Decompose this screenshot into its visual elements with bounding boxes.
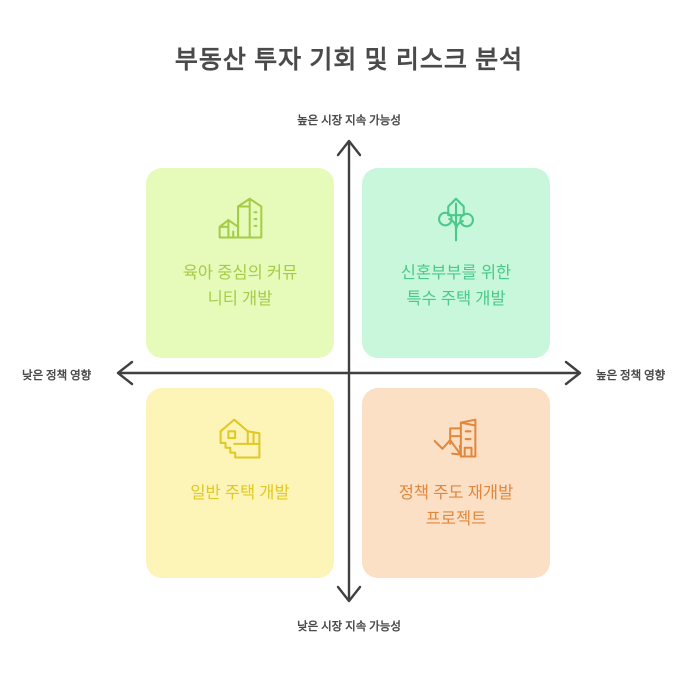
axis-label-y-high: 높은 시장 지속 가능성 xyxy=(0,112,698,128)
building-house-icon xyxy=(209,190,271,252)
quadrant-label-bottom-left: 일반 주택 개발 xyxy=(157,480,323,506)
sprout-house-icon xyxy=(425,190,487,252)
quadrant-chart: 부동산 투자 기회 및 리스크 분석 높은 시장 지속 가능성 낮은 시장 지속… xyxy=(0,0,698,686)
y-axis-arrowhead-up xyxy=(338,141,360,155)
quadrant-label-bottom-right: 정책 주도 재개발 프로젝트 xyxy=(373,480,539,532)
quadrant-label-top-right: 신혼부부를 위한 특수 주택 개발 xyxy=(373,260,539,312)
quadrant-bottom-right[interactable]: 정책 주도 재개발 프로젝트 xyxy=(362,388,550,578)
axis-label-x-low: 낮은 정책 영향 xyxy=(22,367,91,383)
quadrant-bottom-left[interactable]: 일반 주택 개발 xyxy=(146,388,334,578)
building-down-arrow-icon xyxy=(425,410,487,472)
quadrant-top-left[interactable]: 육아 중심의 커뮤 니티 개발 xyxy=(146,168,334,358)
axis-label-y-low: 낮은 시장 지속 가능성 xyxy=(0,618,698,634)
quadrant-label-top-left: 육아 중심의 커뮤 니티 개발 xyxy=(157,260,323,312)
y-axis-arrowhead-down xyxy=(338,587,360,601)
x-axis-arrowhead-left xyxy=(118,362,132,384)
page-title: 부동산 투자 기회 및 리스크 분석 xyxy=(0,40,698,76)
x-axis-arrowhead-right xyxy=(566,362,580,384)
quadrant-top-right[interactable]: 신혼부부를 위한 특수 주택 개발 xyxy=(362,168,550,358)
house-steps-icon xyxy=(209,410,271,472)
axis-label-x-high: 높은 정책 영향 xyxy=(596,367,665,383)
axes xyxy=(0,0,698,686)
